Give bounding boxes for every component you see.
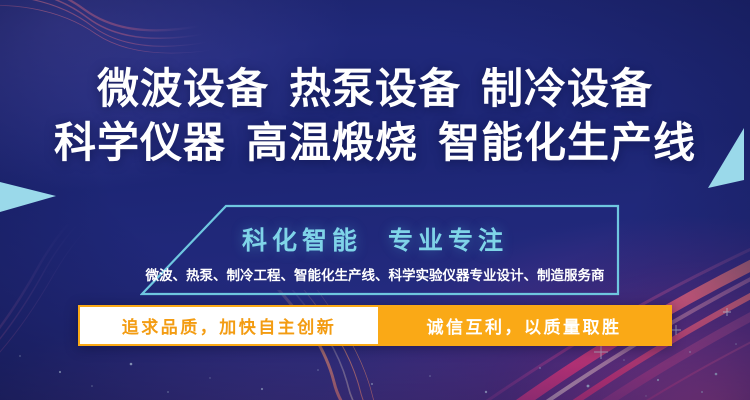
subtitle-description: 微波、热泵、制冷工程、智能化生产线、科学实验仪器专业设计、制造服务商	[0, 264, 750, 284]
subtitle-right: 专业专注	[388, 227, 508, 255]
headline-line-1: 微波设备热泵设备制冷设备	[0, 62, 750, 116]
headline-line-2: 科学仪器高温煅烧智能化生产线	[0, 116, 750, 170]
headline-word-5: 高温煅烧	[246, 119, 418, 166]
headline-word-6: 智能化生产线	[438, 119, 696, 166]
headline: 微波设备热泵设备制冷设备 科学仪器高温煅烧智能化生产线	[0, 62, 750, 170]
accent-triangle-left-icon	[0, 178, 60, 218]
promo-banner: 微波设备热泵设备制冷设备 科学仪器高温煅烧智能化生产线 科化智能专业专注 微波、…	[0, 0, 750, 400]
headline-word-1: 微波设备	[97, 65, 269, 112]
headline-word-3: 制冷设备	[481, 65, 653, 112]
subtitle-left: 科化智能	[242, 227, 362, 255]
headline-word-2: 热泵设备	[289, 65, 461, 112]
slogan-secondary[interactable]: 诚信互利，以质量取胜	[378, 305, 672, 346]
headline-word-4: 科学仪器	[54, 119, 226, 166]
slogan-bar-group: 追求品质，加快自主创新 诚信互利，以质量取胜	[78, 305, 672, 346]
subtitle-tagline: 科化智能专业专注	[0, 221, 750, 257]
slogan-primary[interactable]: 追求品质，加快自主创新	[78, 305, 378, 346]
